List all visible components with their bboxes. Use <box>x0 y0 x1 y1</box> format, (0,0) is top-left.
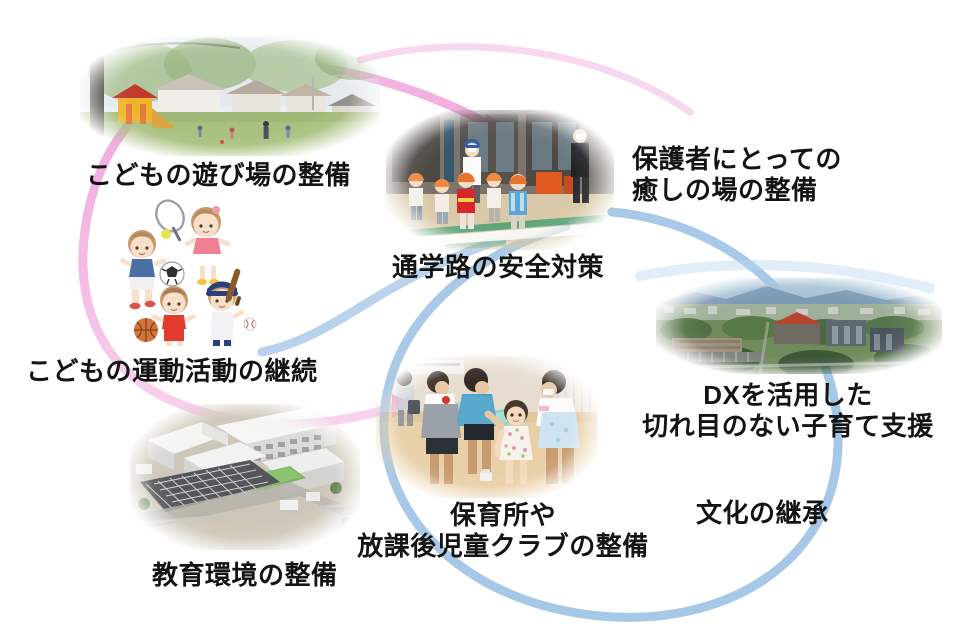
caption-sports-activity: こどもの運動活動の継続 <box>26 356 356 387</box>
caption-guardian-healing-place: 保護者にとっての 癒しの場の整備 <box>632 144 932 206</box>
caption-nursery-afterschool-club: 保育所や 放課後児童クラブの整備 <box>338 500 668 562</box>
school-aerial-photo <box>130 404 360 550</box>
caption-education-environment: 教育環境の整備 <box>152 560 392 591</box>
park-playground-photo <box>80 36 380 156</box>
caption-playground: こどもの遊び場の整備 <box>86 160 386 191</box>
caption-dx-childcare-support: DXを活用した 切れ目のない子育て支援 <box>628 380 948 442</box>
town-aerial-photo <box>656 278 942 374</box>
sports-children-illustration <box>110 196 270 348</box>
slide-canvas: こどもの遊び場の整備 <box>0 0 960 640</box>
school-route-photo <box>386 110 614 250</box>
caption-culture-inheritance: 文化の継承 <box>696 498 896 529</box>
nursery-photo <box>376 356 598 498</box>
caption-school-route-safety: 通学路の安全対策 <box>392 252 652 283</box>
